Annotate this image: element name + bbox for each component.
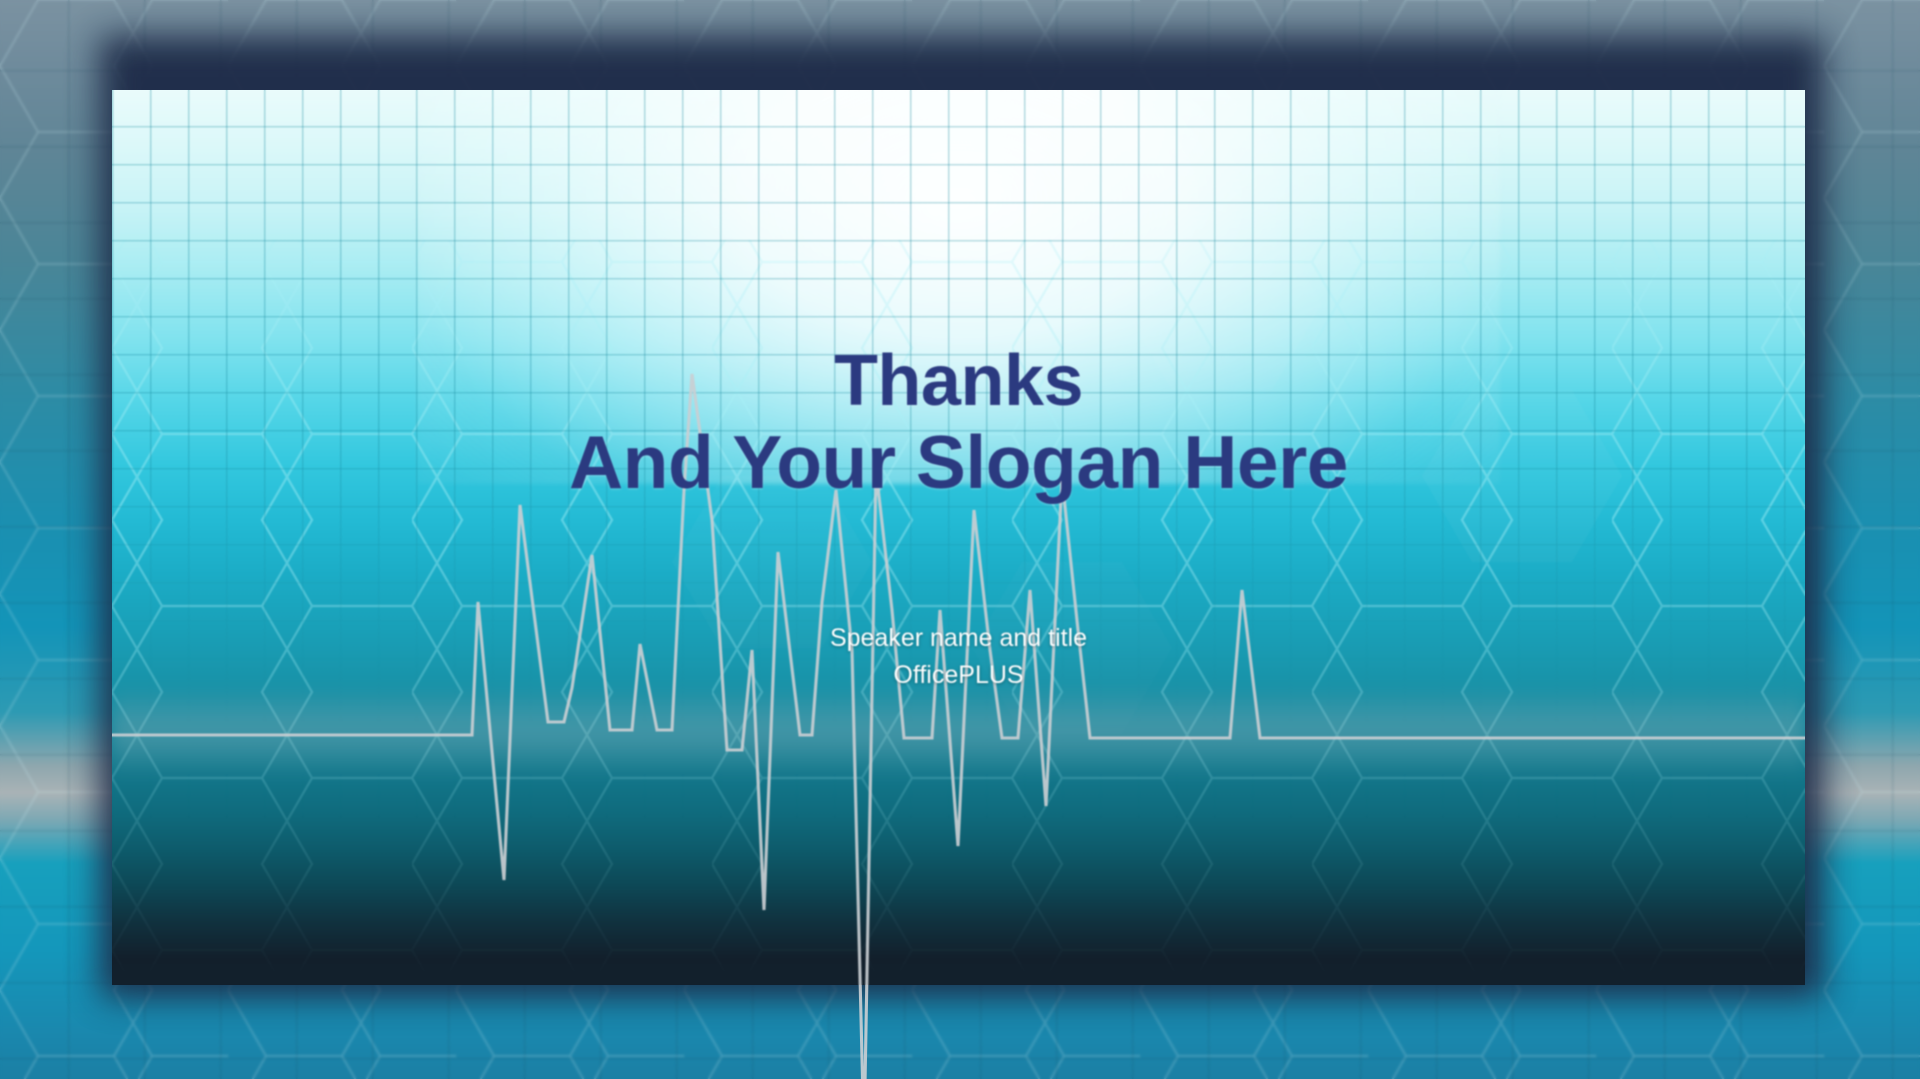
presentation-screenshot: Thanks And Your Slogan Here Speaker name… xyxy=(0,0,1920,1079)
slide-canvas[interactable]: Thanks And Your Slogan Here Speaker name… xyxy=(112,90,1805,985)
ekg-waveform xyxy=(112,90,1805,985)
